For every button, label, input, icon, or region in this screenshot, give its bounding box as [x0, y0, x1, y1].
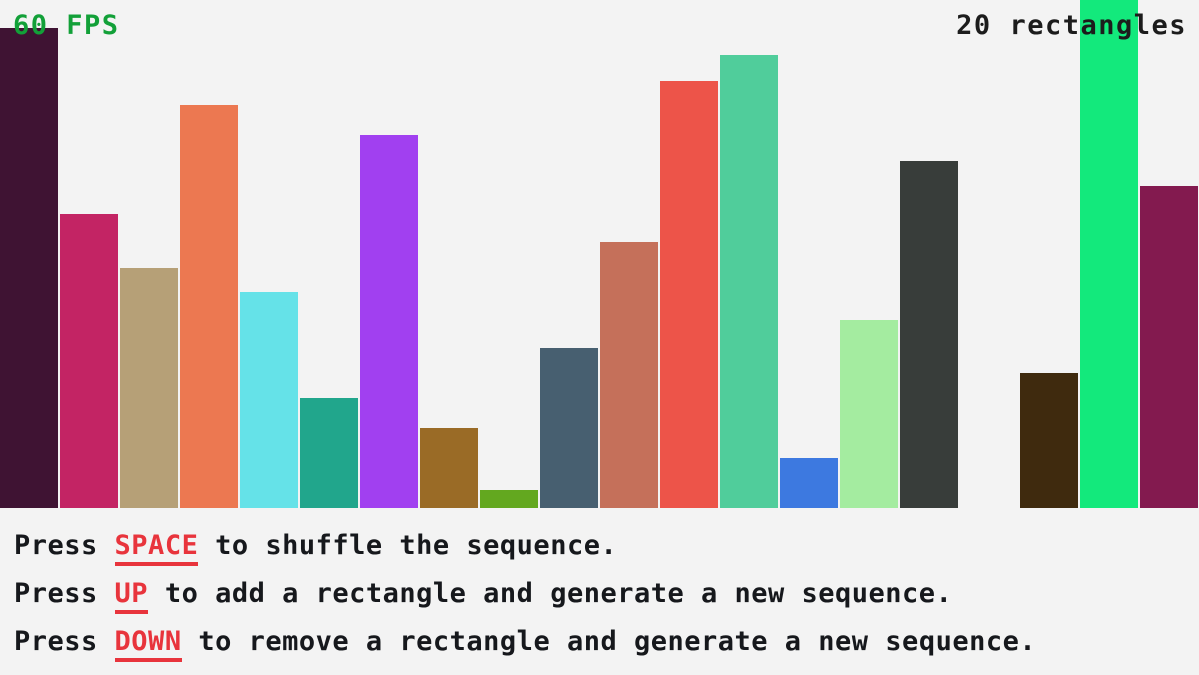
instruction-suffix: to shuffle the sequence. [198, 530, 617, 561]
instruction-line-2: Press UP to add a rectangle and generate… [14, 570, 1199, 618]
instruction-prefix: Press [14, 626, 115, 657]
bar-1 [0, 28, 58, 508]
bar-18 [1020, 373, 1078, 508]
bar-11 [600, 242, 658, 508]
bar-chart [0, 0, 1199, 508]
bar-8 [420, 428, 478, 508]
bar-12 [660, 81, 718, 508]
bar-2 [60, 214, 118, 508]
rectangle-sequence-app: 60 FPS 20 rectangles Press SPACE to shuf… [0, 0, 1199, 675]
instruction-line-1: Press SPACE to shuffle the sequence. [14, 522, 1199, 570]
bar-16 [900, 161, 958, 508]
bar-10 [540, 348, 598, 508]
bar-19 [1080, 0, 1138, 508]
instruction-line-3: Press DOWN to remove a rectangle and gen… [14, 618, 1199, 666]
fps-counter: 60 FPS [13, 12, 120, 39]
bar-13 [720, 55, 778, 508]
instruction-prefix: Press [14, 530, 115, 561]
bar-9 [480, 490, 538, 508]
key-space[interactable]: SPACE [115, 530, 199, 566]
bar-6 [300, 398, 358, 508]
bar-4 [180, 105, 238, 508]
bar-7 [360, 135, 418, 508]
rectangle-count-label: 20 rectangles [956, 12, 1187, 39]
bar-15 [840, 320, 898, 508]
bar-20 [1140, 186, 1198, 508]
key-down[interactable]: DOWN [115, 626, 182, 662]
instruction-suffix: to add a rectangle and generate a new se… [148, 578, 952, 609]
instruction-suffix: to remove a rectangle and generate a new… [182, 626, 1037, 657]
bar-5 [240, 292, 298, 508]
instructions-panel: Press SPACE to shuffle the sequence.Pres… [0, 508, 1199, 675]
key-up[interactable]: UP [115, 578, 149, 614]
bar-3 [120, 268, 178, 508]
instruction-prefix: Press [14, 578, 115, 609]
bar-14 [780, 458, 838, 508]
